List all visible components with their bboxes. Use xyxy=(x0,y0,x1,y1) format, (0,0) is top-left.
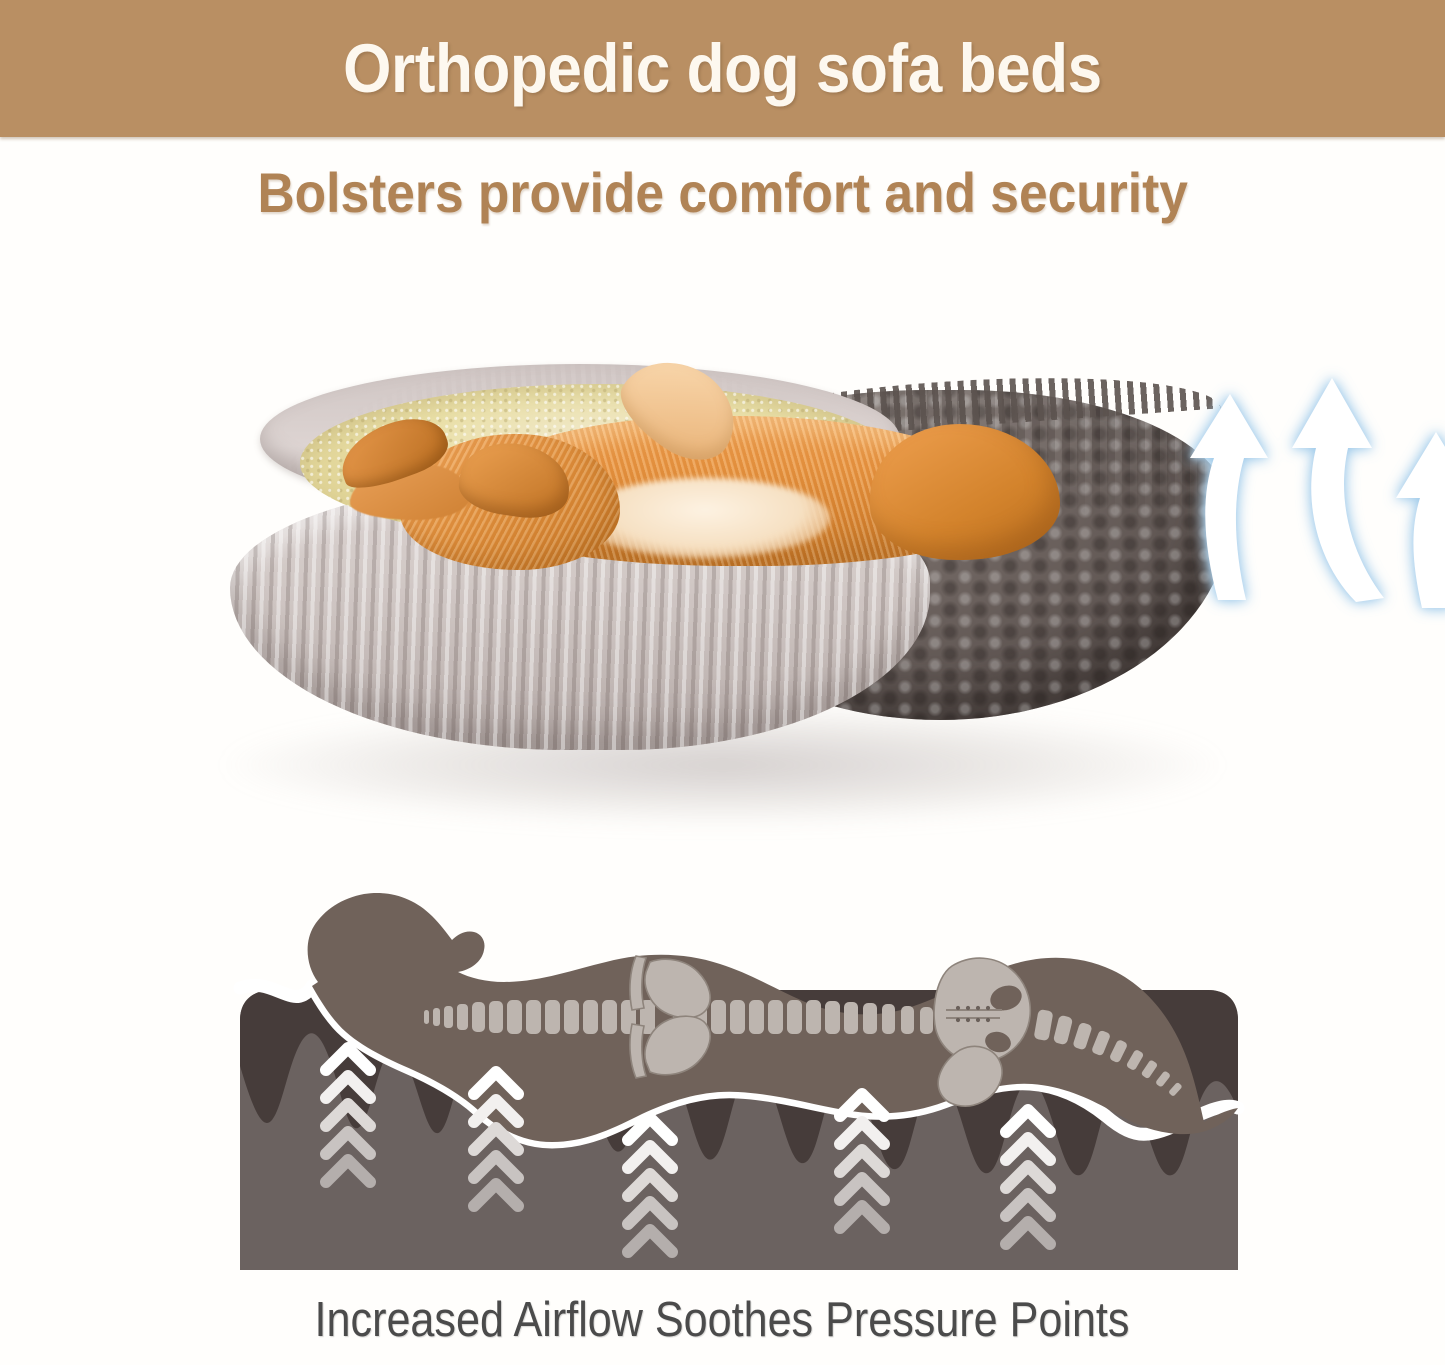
subtitle-row: Bolsters provide comfort and security xyxy=(0,152,1445,232)
hero-product-photo xyxy=(0,250,1445,870)
pressure-point-diagram xyxy=(0,870,1445,1270)
page-title: Orthopedic dog sofa beds xyxy=(343,29,1102,108)
header-banner: Orthopedic dog sofa beds xyxy=(0,0,1445,137)
airflow-arrow-1 xyxy=(1190,394,1268,600)
caption-text: Increased Airflow Soothes Pressure Point… xyxy=(315,1292,1130,1348)
airflow-arrow-3 xyxy=(1396,432,1445,608)
sleeping-dog xyxy=(290,360,1050,590)
caption-row: Increased Airflow Soothes Pressure Point… xyxy=(0,1285,1445,1355)
dog-bed xyxy=(230,360,1230,780)
subtitle-text: Bolsters provide comfort and security xyxy=(257,160,1187,225)
product-infographic: Orthopedic dog sofa beds Bolsters provid… xyxy=(0,0,1445,1365)
dog-rump xyxy=(870,424,1060,560)
airflow-arrows-group xyxy=(1160,350,1445,610)
airflow-arrow-2 xyxy=(1292,378,1384,602)
